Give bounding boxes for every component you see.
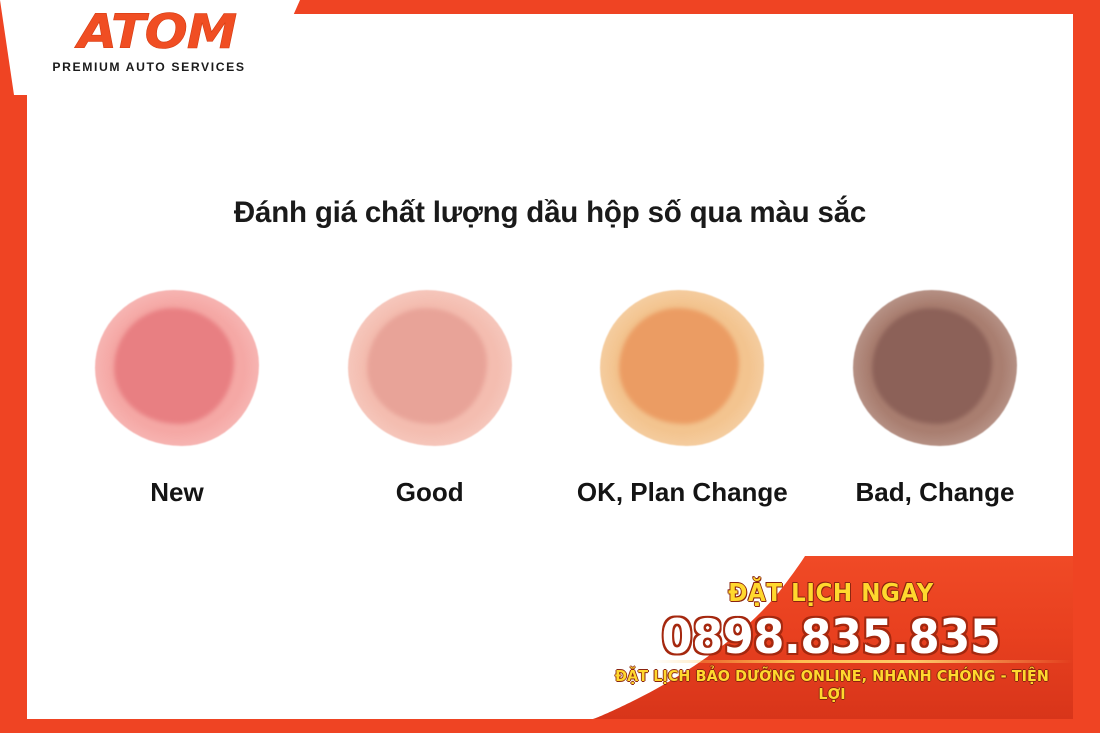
chart-title: Đánh giá chất lượng dầu hộp số qua màu s… xyxy=(27,196,1073,230)
oil-blot-bad-change xyxy=(835,280,1035,455)
blot-shape xyxy=(350,292,510,444)
oil-blot-good xyxy=(330,280,530,455)
promo-note-label: ĐẶT LỊCH BẢO DƯỠNG ONLINE, NHANH CHÓNG -… xyxy=(610,667,1055,703)
poster-canvas: Đánh giá chất lượng dầu hộp số qua màu s… xyxy=(0,0,1100,733)
sample-item: Bad, Change xyxy=(809,280,1061,508)
oil-blot-ok-plan-change xyxy=(582,280,782,455)
blot-core xyxy=(619,308,739,424)
logo-tagline: PREMIUM AUTO SERVICES xyxy=(22,60,272,74)
sample-label-new: New xyxy=(150,477,203,508)
sample-row: New Good xyxy=(51,280,1061,540)
promo-phone-number[interactable]: 0898.835.835 xyxy=(605,610,1057,665)
sample-label-good: Good xyxy=(396,477,464,508)
logo-wordmark: ATOM xyxy=(22,8,292,58)
sample-label-bad-change: Bad, Change xyxy=(856,477,1015,508)
sample-item: OK, Plan Change xyxy=(556,280,808,508)
blot-shape xyxy=(97,292,257,444)
blot-core xyxy=(872,308,992,424)
sample-item: New xyxy=(51,280,303,508)
blot-shape xyxy=(855,292,1015,444)
sample-item: Good xyxy=(304,280,556,508)
oil-blot-new xyxy=(77,280,277,455)
promo-cta-label: ĐẶT LỊCH NGAY xyxy=(612,578,1050,607)
blot-shape xyxy=(602,292,762,444)
brand-logo-badge[interactable]: ATOM PREMIUM AUTO SERVICES xyxy=(0,0,300,95)
blot-core xyxy=(114,308,234,424)
promo-banner[interactable]: ĐẶT LỊCH NGAY 0898.835.835 ĐẶT LỊCH BẢO … xyxy=(593,556,1073,719)
content-card: Đánh giá chất lượng dầu hộp số qua màu s… xyxy=(27,14,1073,719)
logo-content: ATOM PREMIUM AUTO SERVICES xyxy=(22,8,272,88)
blot-core xyxy=(367,308,487,424)
sample-label-ok-plan-change: OK, Plan Change xyxy=(577,477,788,508)
